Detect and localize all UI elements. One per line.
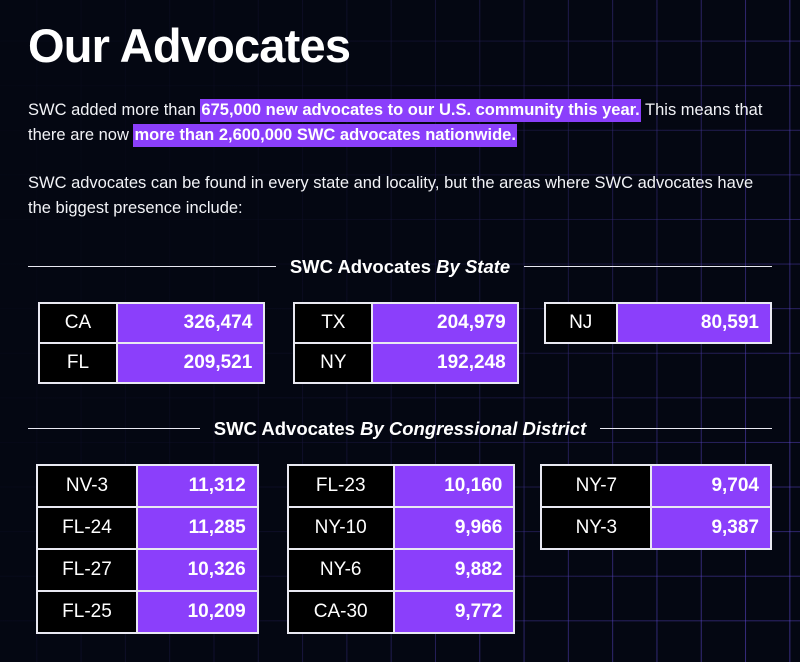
row-label: FL-27 [38, 550, 138, 590]
row-label: NY [295, 344, 373, 382]
row-label: TX [295, 304, 373, 342]
table-row: NJ 80,591 [546, 304, 770, 342]
row-value: 80,591 [618, 304, 770, 342]
table-row: NY-7 9,704 [542, 466, 770, 508]
district-table-group-1: NV-3 11,312 FL-24 11,285 FL-27 10,326 FL… [36, 464, 259, 634]
row-value: 9,882 [395, 550, 514, 590]
row-value: 9,772 [395, 592, 514, 632]
state-table-group-1: CA 326,474 FL 209,521 [38, 302, 265, 384]
table-row: NY-10 9,966 [289, 508, 514, 550]
row-value: 10,160 [395, 466, 514, 506]
row-label: FL-25 [38, 592, 138, 632]
state-tables-row: CA 326,474 FL 209,521 TX 204,979 NY 192,… [28, 302, 772, 384]
table-row: NV-3 11,312 [38, 466, 257, 508]
section-rule-right [600, 428, 772, 429]
row-value: 209,521 [118, 344, 263, 382]
row-label: CA [40, 304, 118, 342]
section-title-italic: By State [436, 256, 510, 277]
row-label: NY-7 [542, 466, 652, 506]
row-label: FL [40, 344, 118, 382]
table-row: CA 326,474 [40, 304, 263, 344]
row-label: NY-6 [289, 550, 395, 590]
row-label: NV-3 [38, 466, 138, 506]
state-table-group-2: TX 204,979 NY 192,248 [293, 302, 518, 384]
district-table-group-3: NY-7 9,704 NY-3 9,387 [540, 464, 772, 550]
row-label: CA-30 [289, 592, 395, 632]
row-value: 192,248 [373, 344, 516, 382]
row-value: 10,326 [138, 550, 257, 590]
table-row: NY-6 9,882 [289, 550, 514, 592]
row-label: NY-3 [542, 508, 652, 548]
advocates-infographic: Our Advocates SWC added more than 675,00… [0, 0, 800, 662]
row-label: FL-24 [38, 508, 138, 548]
intro-highlight-1: 675,000 new advocates to our U.S. commun… [200, 99, 640, 122]
table-row: FL-27 10,326 [38, 550, 257, 592]
section-title-plain: SWC Advocates [214, 418, 360, 439]
section-title-italic: By Congressional District [360, 418, 586, 439]
section-rule-left [28, 428, 200, 429]
table-row: TX 204,979 [295, 304, 516, 344]
intro-paragraph-2: SWC advocates can be found in every stat… [28, 149, 772, 222]
section-title-by-state: SWC Advocates By State [290, 256, 510, 278]
row-value: 9,387 [652, 508, 770, 548]
section-rule-right [524, 266, 772, 267]
table-row: NY 192,248 [295, 344, 516, 382]
row-value: 10,209 [138, 592, 257, 632]
row-label: FL-23 [289, 466, 395, 506]
row-value: 9,966 [395, 508, 514, 548]
table-row: NY-3 9,387 [542, 508, 770, 548]
table-row: CA-30 9,772 [289, 592, 514, 632]
section-rule-left [28, 266, 276, 267]
row-label: NJ [546, 304, 618, 342]
state-table-group-3: NJ 80,591 [544, 302, 772, 344]
district-table-group-2: FL-23 10,160 NY-10 9,966 NY-6 9,882 CA-3… [287, 464, 516, 634]
intro-plain-prefix: SWC added more than [28, 101, 200, 119]
row-value: 204,979 [373, 304, 516, 342]
section-header-by-state: SWC Advocates By State [28, 256, 772, 278]
table-row: FL-24 11,285 [38, 508, 257, 550]
row-label: NY-10 [289, 508, 395, 548]
row-value: 326,474 [118, 304, 263, 342]
page-title: Our Advocates [28, 0, 772, 71]
table-row: FL-25 10,209 [38, 592, 257, 632]
section-header-by-district: SWC Advocates By Congressional District [28, 418, 772, 440]
row-value: 11,312 [138, 466, 257, 506]
table-row: FL-23 10,160 [289, 466, 514, 508]
section-title-by-district: SWC Advocates By Congressional District [214, 418, 587, 440]
content-column: Our Advocates SWC added more than 675,00… [0, 0, 800, 634]
district-tables-row: NV-3 11,312 FL-24 11,285 FL-27 10,326 FL… [28, 464, 772, 634]
row-value: 11,285 [138, 508, 257, 548]
table-row: FL 209,521 [40, 344, 263, 382]
intro-highlight-2: more than 2,600,000 SWC advocates nation… [133, 124, 516, 147]
row-value: 9,704 [652, 466, 770, 506]
section-title-plain: SWC Advocates [290, 256, 436, 277]
intro-paragraph-1: SWC added more than 675,000 new advocate… [28, 71, 772, 149]
